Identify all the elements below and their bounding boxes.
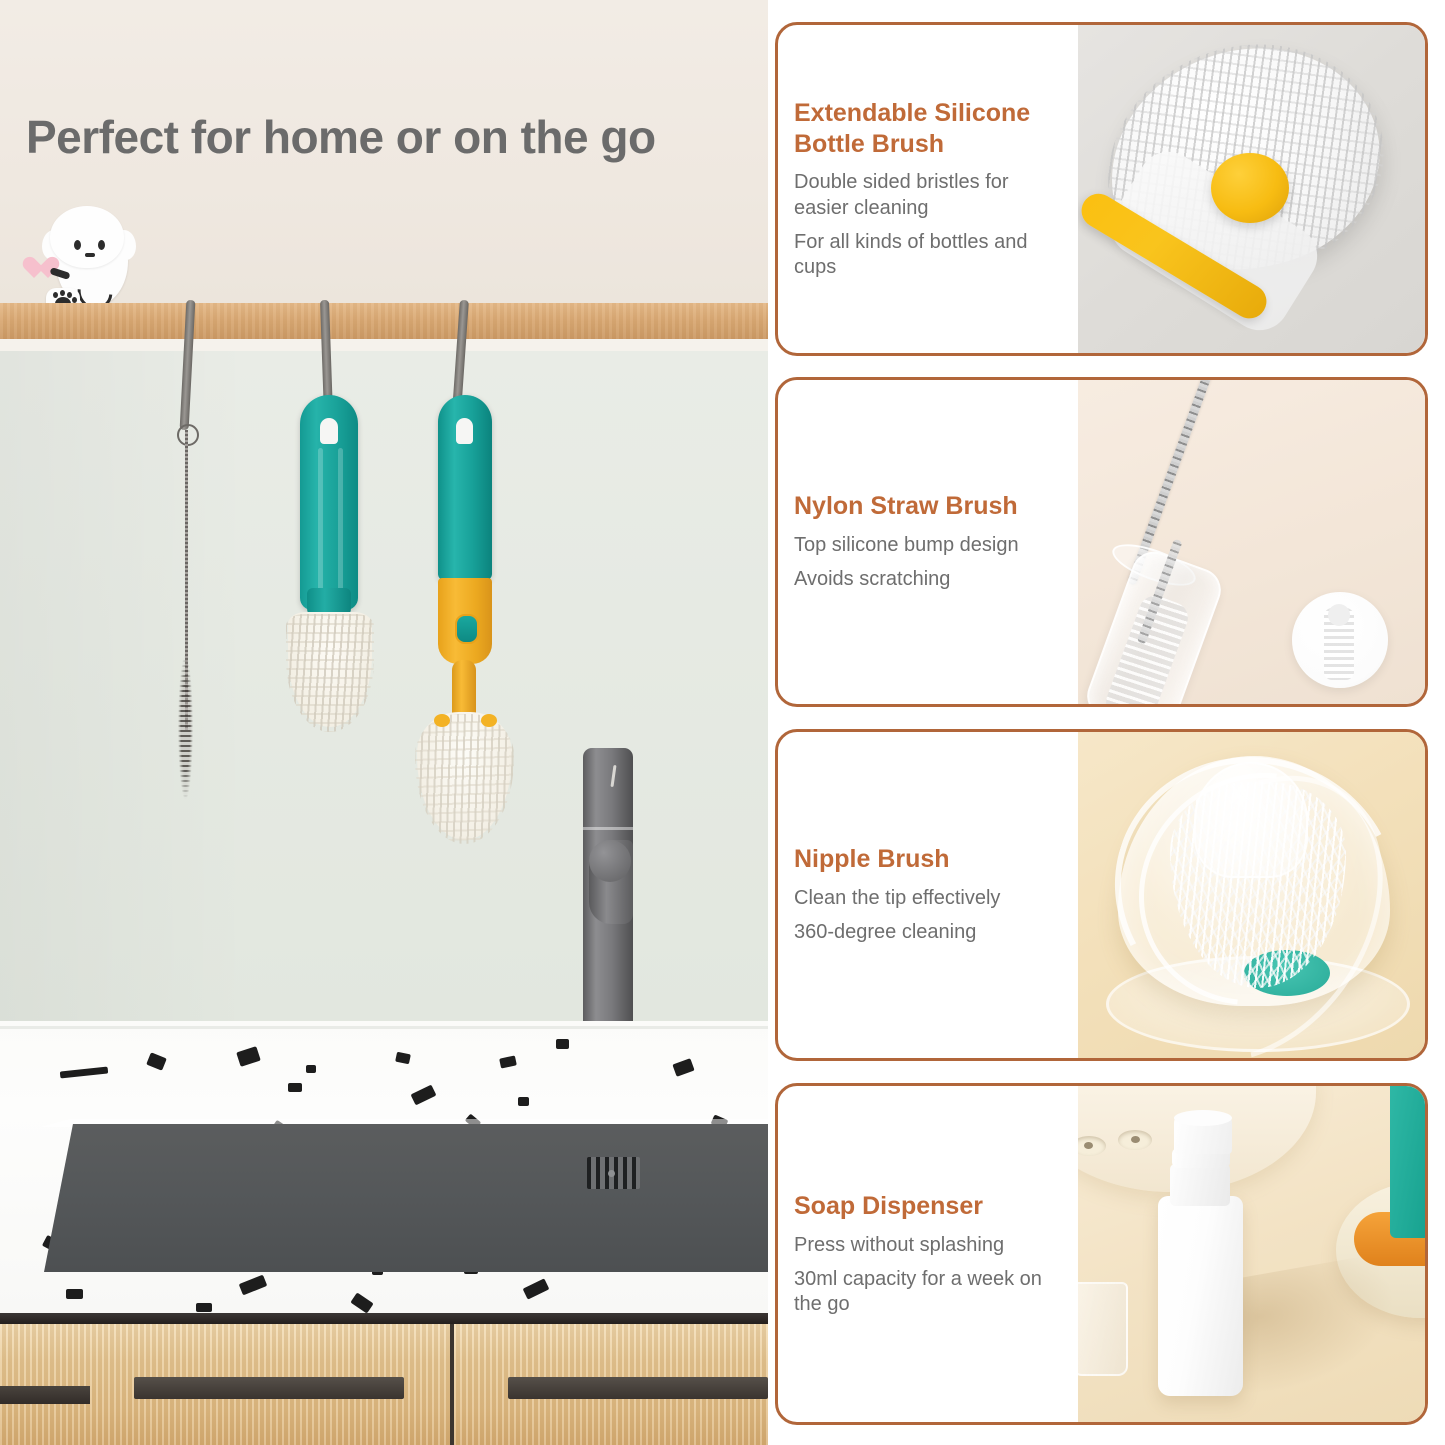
card-feature-line: 360-degree cleaning xyxy=(794,920,1064,945)
card-feature-line: Double sided bristles for easier cleanin… xyxy=(794,170,1064,220)
card-text-block: Extendable Silicone Bottle Brush Double … xyxy=(778,25,1078,353)
extend-release-button xyxy=(455,614,479,644)
card-text-block: Soap Dispenser Press without splashing 3… xyxy=(778,1086,1078,1422)
card-title: Extendable Silicone Bottle Brush xyxy=(794,98,1064,160)
tray-hole-center xyxy=(1084,1142,1093,1149)
feature-card-soap-dispenser[interactable]: Soap Dispenser Press without splashing 3… xyxy=(775,1083,1428,1425)
cabinet-left-edge xyxy=(0,1386,90,1404)
teal-brush-handle xyxy=(1390,1086,1425,1238)
sink-overflow-dot xyxy=(608,1170,615,1177)
silicone-bump-tip xyxy=(1328,604,1350,626)
faucet-lever-knob xyxy=(589,840,631,882)
straw-brush-bristles xyxy=(178,655,193,800)
mascot-eye-left xyxy=(74,240,81,250)
soap-bottle-neck xyxy=(1170,1164,1230,1206)
card-feature-line: Avoids scratching xyxy=(794,567,1064,592)
feature-card-nylon-straw-brush[interactable]: Nylon Straw Brush Top silicone bump desi… xyxy=(775,377,1428,707)
faucet-seam xyxy=(583,827,633,830)
handle-ridge xyxy=(338,448,343,598)
handle-ridge xyxy=(318,448,323,598)
bottle-shadow xyxy=(1219,1252,1407,1398)
product-infographic-page: Perfect for home or on the go xyxy=(0,0,1445,1445)
card-feature-line: Clean the tip effectively xyxy=(794,886,1064,911)
nipple-brush-photo xyxy=(1078,732,1425,1058)
counter-top-seam xyxy=(0,1026,768,1029)
card-feature-line: For all kinds of bottles and cups xyxy=(794,230,1064,280)
brush-hang-slot xyxy=(320,418,338,444)
paw-toe xyxy=(67,292,72,298)
feature-card-nipple-brush[interactable]: Nipple Brush Clean the tip effectively 3… xyxy=(775,729,1428,1061)
brush-head-dot xyxy=(434,714,450,727)
mascot-head xyxy=(50,206,124,268)
mascot-eye-right xyxy=(98,240,105,250)
clear-cup xyxy=(1078,1282,1128,1376)
feature-card-list: Extendable Silicone Bottle Brush Double … xyxy=(775,0,1445,1445)
rail-under-edge xyxy=(0,339,768,351)
cabinet-top-shadow xyxy=(0,1313,768,1324)
silicone-bottle-brush-photo xyxy=(1078,25,1425,353)
hero-kitchen-scene: Perfect for home or on the go xyxy=(0,0,768,1445)
soap-dispenser-photo xyxy=(1078,1086,1425,1422)
page-title: Perfect for home or on the go xyxy=(26,110,766,164)
wall-shadow xyxy=(0,351,250,1021)
brush-hang-slot xyxy=(456,418,473,444)
card-title: Nipple Brush xyxy=(794,844,1064,875)
cabinet-handle-left xyxy=(134,1377,404,1399)
card-title: Soap Dispenser xyxy=(794,1191,1064,1222)
yellow-handle-knob xyxy=(1211,153,1289,223)
cabinet-handle-right xyxy=(508,1377,768,1399)
card-feature-line: 30ml capacity for a week on the go xyxy=(794,1267,1064,1317)
nylon-straw-brush-photo xyxy=(1078,380,1425,704)
soap-pump-top xyxy=(1174,1110,1232,1126)
paw-toe xyxy=(53,292,58,298)
feature-card-extendable-silicone-bottle-brush[interactable]: Extendable Silicone Bottle Brush Double … xyxy=(775,22,1428,356)
card-title: Nylon Straw Brush xyxy=(794,491,1064,522)
card-text-block: Nipple Brush Clean the tip effectively 3… xyxy=(778,732,1078,1058)
card-feature-line: Press without splashing xyxy=(794,1233,1064,1258)
wood-grain-texture xyxy=(0,303,768,343)
kitchen-backsplash-wall xyxy=(0,351,768,1021)
card-text-block: Nylon Straw Brush Top silicone bump desi… xyxy=(778,380,1078,704)
card-feature-line: Top silicone bump design xyxy=(794,533,1064,558)
mascot-nose xyxy=(85,253,95,257)
brush-head-dot xyxy=(481,714,497,727)
tray-hole-center xyxy=(1131,1136,1140,1143)
white-puppy-mascot-icon xyxy=(22,196,150,318)
paw-toe xyxy=(60,290,65,296)
sink-basin xyxy=(44,1124,768,1272)
wood-hanging-rail xyxy=(0,303,768,343)
soap-bottle-body xyxy=(1158,1196,1243,1396)
